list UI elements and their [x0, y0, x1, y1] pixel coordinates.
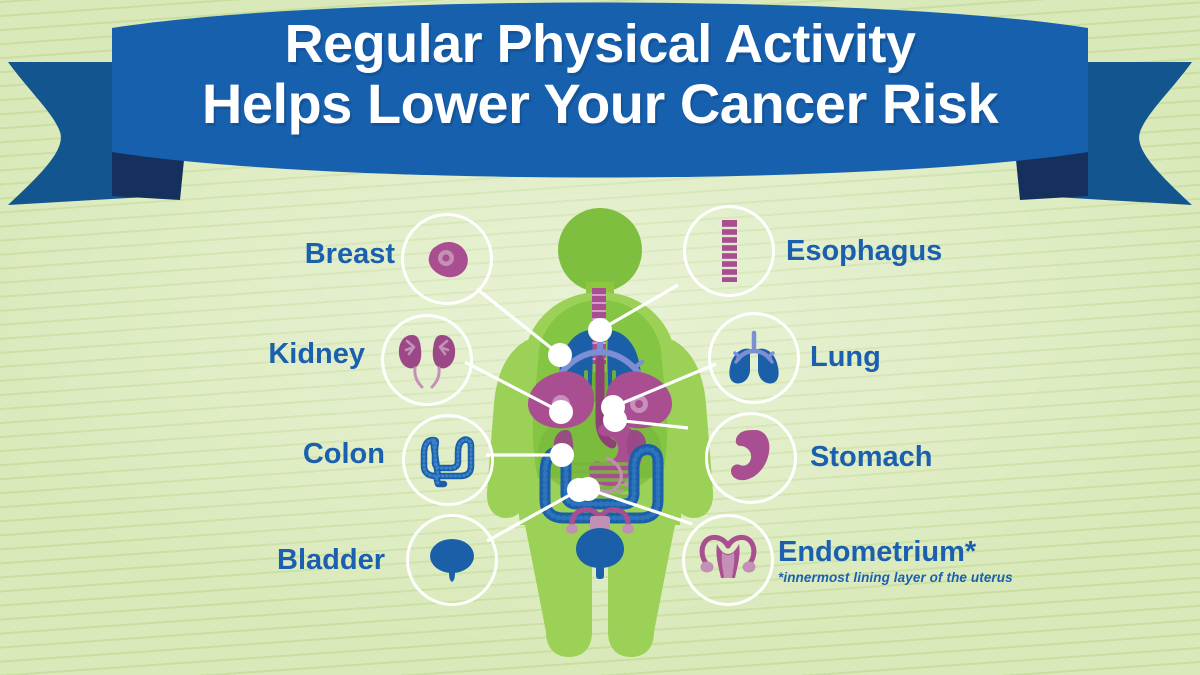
label-bladder: Bladder — [120, 544, 385, 576]
breast-icon — [415, 227, 479, 291]
dot-bladder — [567, 478, 591, 502]
kidney-icon — [392, 327, 462, 393]
stomach-icon — [721, 426, 781, 490]
dot-kidney — [549, 400, 573, 424]
icon-circle-stomach[interactable] — [705, 412, 797, 504]
icon-circle-bladder[interactable] — [406, 514, 498, 606]
label-endometrium-footnote: *innermost lining layer of the uterus — [778, 570, 1000, 586]
label-stomach: Stomach — [810, 441, 932, 473]
icon-circle-colon[interactable] — [402, 414, 494, 506]
icon-circle-esophagus[interactable] — [683, 205, 775, 297]
colon-icon — [416, 428, 480, 492]
label-colon: Colon — [120, 438, 385, 470]
dot-breast — [548, 343, 572, 367]
bladder-icon — [422, 530, 482, 590]
label-lung: Lung — [810, 341, 881, 373]
dot-stomach — [603, 408, 627, 432]
esophagus-icon — [707, 216, 751, 286]
label-esophagus: Esophagus — [786, 235, 942, 267]
icon-circle-kidney[interactable] — [381, 314, 473, 406]
label-breast: Breast — [130, 238, 395, 270]
icon-circle-endometrium[interactable] — [682, 514, 774, 606]
infographic-poster: Breast Kidney Colon Bladder Esophagus Lu… — [0, 0, 1200, 675]
label-kidney: Kidney — [100, 338, 365, 370]
icon-circle-lung[interactable] — [708, 312, 800, 404]
ribbon-panel — [112, 3, 1088, 178]
uterus-icon — [693, 532, 763, 588]
lung-icon — [722, 327, 786, 389]
icon-circle-breast[interactable] — [401, 213, 493, 305]
banner-ribbon-shape — [0, 0, 1200, 215]
title-banner: Regular Physical Activity Helps Lower Yo… — [0, 0, 1200, 215]
label-endometrium: Endometrium* — [778, 536, 976, 568]
dot-colon — [550, 443, 574, 467]
dot-esophagus — [588, 318, 612, 342]
